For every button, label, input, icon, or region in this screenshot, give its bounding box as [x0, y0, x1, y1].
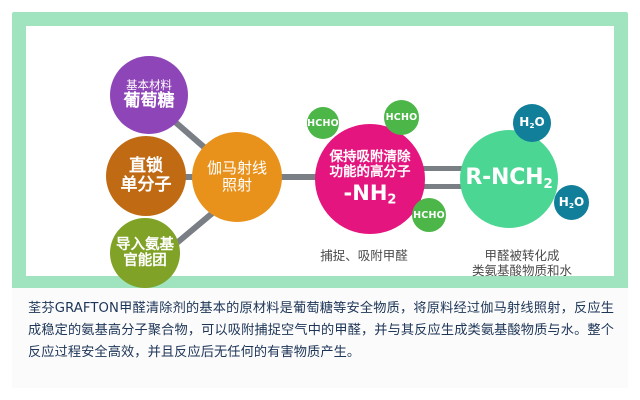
bubble-hcho-1[interactable]: HCHO	[307, 107, 339, 139]
caption-trap-formaldehyde: 捕捉、吸附甲醛	[294, 248, 434, 263]
bubble-h2o-2[interactable]: H2O	[554, 185, 589, 220]
bubble-hcho-3-label: HCHO	[413, 210, 445, 221]
node-polymer-formula-main: -NH	[344, 181, 388, 205]
node-amino-group-line1: 导入氨基	[116, 237, 174, 253]
node-glucose[interactable]: 基本材料 葡萄糖	[110, 56, 188, 134]
node-amino-group-line2: 官能团	[123, 253, 167, 269]
diagram-panel: 基本材料 葡萄糖 直锁 单分子 导入氨基 官能团 伽马射线 照射 保持吸附清除 …	[26, 26, 614, 276]
bubble-hcho-1-label: HCHO	[307, 118, 339, 129]
description-panel: 荃芬GRAFTON甲醛清除剂的基本的原材料是葡萄糖等安全物质，将原料经过伽马射线…	[12, 288, 628, 388]
node-gamma-irradiation[interactable]: 伽马射线 照射	[192, 132, 282, 222]
bubble-hcho-2-label: HCHO	[386, 112, 418, 123]
node-r-nch2-formula: R-NCH2	[465, 166, 552, 192]
bubble-h2o-1-tail: O	[535, 115, 545, 129]
node-r-nch2-formula-main: R-NCH	[465, 165, 543, 190]
node-polymer-nh2[interactable]: 保持吸附清除 功能的高分子 -NH2	[315, 124, 425, 234]
node-gamma-line2: 照射	[222, 177, 252, 194]
node-monomolecule-line2: 单分子	[121, 176, 172, 195]
node-amino-group[interactable]: 导入氨基 官能团	[110, 218, 180, 288]
bubble-hcho-2[interactable]: HCHO	[384, 100, 419, 135]
caption-convert-formaldehyde: 甲醛被转化成 类氨基酸物质和水	[442, 248, 602, 278]
node-gamma-line1: 伽马射线	[207, 160, 267, 177]
node-polymer-formula: -NH2	[344, 182, 397, 208]
node-glucose-sublabel: 基本材料	[126, 79, 172, 92]
bubble-h2o-1[interactable]: H2O	[513, 104, 551, 142]
description-body: 荃芬GRAFTON甲醛清除剂的基本的原材料是葡萄糖等安全物质，将原料经过伽马射线…	[28, 298, 614, 364]
node-polymer-line1: 保持吸附清除	[330, 150, 411, 165]
node-monomolecule[interactable]: 直锁 单分子	[106, 136, 186, 216]
bubble-h2o-2-tail: O	[574, 195, 584, 209]
caption-convert-line2: 类氨基酸物质和水	[442, 263, 602, 278]
node-glucose-label: 葡萄糖	[124, 92, 175, 111]
bubble-hcho-3[interactable]: HCHO	[412, 198, 446, 232]
bubble-h2o-2-label: H2O	[559, 195, 584, 210]
bubble-h2o-2-main: H	[559, 195, 569, 209]
node-polymer-formula-subscript: 2	[387, 193, 396, 208]
node-r-nch2-formula-subscript: 2	[543, 176, 552, 192]
node-r-nch2[interactable]: R-NCH2	[460, 130, 558, 228]
caption-convert-line1: 甲醛被转化成	[442, 248, 602, 263]
node-monomolecule-line1: 直锁	[129, 157, 163, 176]
node-polymer-line2: 功能的高分子	[330, 165, 411, 180]
bubble-h2o-1-main: H	[519, 115, 529, 129]
infographic-root: 基本材料 葡萄糖 直锁 单分子 导入氨基 官能团 伽马射线 照射 保持吸附清除 …	[0, 0, 640, 400]
bubble-h2o-1-label: H2O	[519, 115, 544, 130]
